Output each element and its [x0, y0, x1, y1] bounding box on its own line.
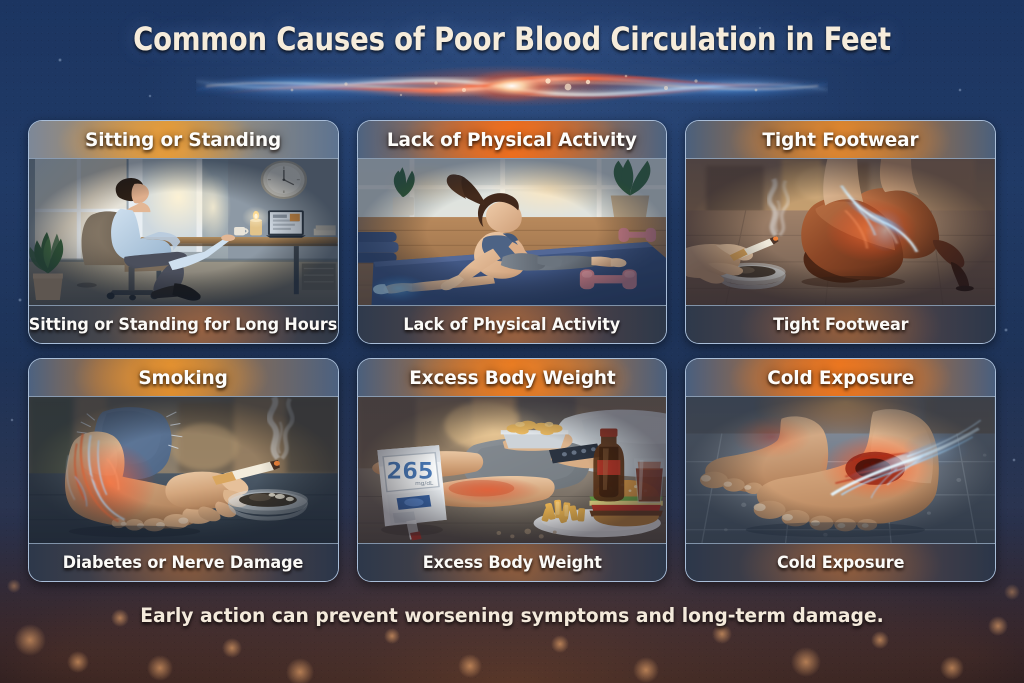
card-header: Sitting or Standing: [29, 121, 338, 159]
card-header-label: Excess Body Weight: [409, 367, 615, 389]
card-header: Excess Body Weight: [358, 359, 667, 397]
card-illustration-high-heels-and-cigarette: [686, 159, 995, 305]
infographic-poster: Common Causes of Poor Blood Circulation …: [0, 0, 1024, 683]
card-caption: Diabetes or Nerve Damage: [29, 543, 338, 581]
card-header-label: Sitting or Standing: [85, 129, 281, 151]
card-header-label: Tight Footwear: [763, 129, 919, 151]
page-title: Common Causes of Poor Blood Circulation …: [23, 20, 1001, 58]
card-illustration-bare-feet-on-cold-floor: [686, 397, 995, 543]
card-illustration-office-desk: [29, 159, 338, 305]
footer-note: Early action can prevent worsening sympt…: [20, 604, 1003, 627]
card-caption: Cold Exposure: [686, 543, 995, 581]
card-caption-label: Excess Body Weight: [422, 553, 601, 572]
card-caption-label: Lack of Physical Activity: [404, 315, 621, 334]
card-cold-exposure[interactable]: Cold Exposure: [685, 358, 996, 582]
card-caption-label: Cold Exposure: [777, 553, 904, 572]
card-caption: Tight Footwear: [686, 305, 995, 343]
blood-flow-decor-banner: [196, 57, 828, 115]
card-sitting-or-standing[interactable]: Sitting or Standing: [28, 120, 339, 344]
card-header: Cold Exposure: [686, 359, 995, 397]
card-tight-footwear[interactable]: Tight Footwear: [685, 120, 996, 344]
card-header-label: Lack of Physical Activity: [387, 129, 637, 151]
card-caption: Lack of Physical Activity: [358, 305, 667, 343]
card-caption-label: Sitting or Standing for Long Hours: [29, 315, 337, 334]
card-caption-label: Tight Footwear: [773, 315, 908, 334]
card-header: Smoking: [29, 359, 338, 397]
card-illustration-glucose-meter-and-fast-food: 265 mg/dL: [358, 397, 667, 543]
card-illustration-stretching-on-mat: [358, 159, 667, 305]
card-header-label: Cold Exposure: [767, 367, 914, 389]
card-smoking[interactable]: Smoking: [28, 358, 339, 582]
card-header: Tight Footwear: [686, 121, 995, 159]
causes-grid: Sitting or Standing: [28, 120, 996, 582]
card-caption-label: Diabetes or Nerve Damage: [63, 553, 303, 572]
card-illustration-foot-with-vein-glow-and-cigarette: [29, 397, 338, 543]
card-caption: Excess Body Weight: [358, 543, 667, 581]
card-caption: Sitting or Standing for Long Hours: [29, 305, 338, 343]
card-header: Lack of Physical Activity: [358, 121, 667, 159]
card-excess-body-weight[interactable]: Excess Body Weight: [357, 358, 668, 582]
card-lack-of-physical-activity[interactable]: Lack of Physical Activity: [357, 120, 668, 344]
card-header-label: Smoking: [139, 367, 228, 389]
